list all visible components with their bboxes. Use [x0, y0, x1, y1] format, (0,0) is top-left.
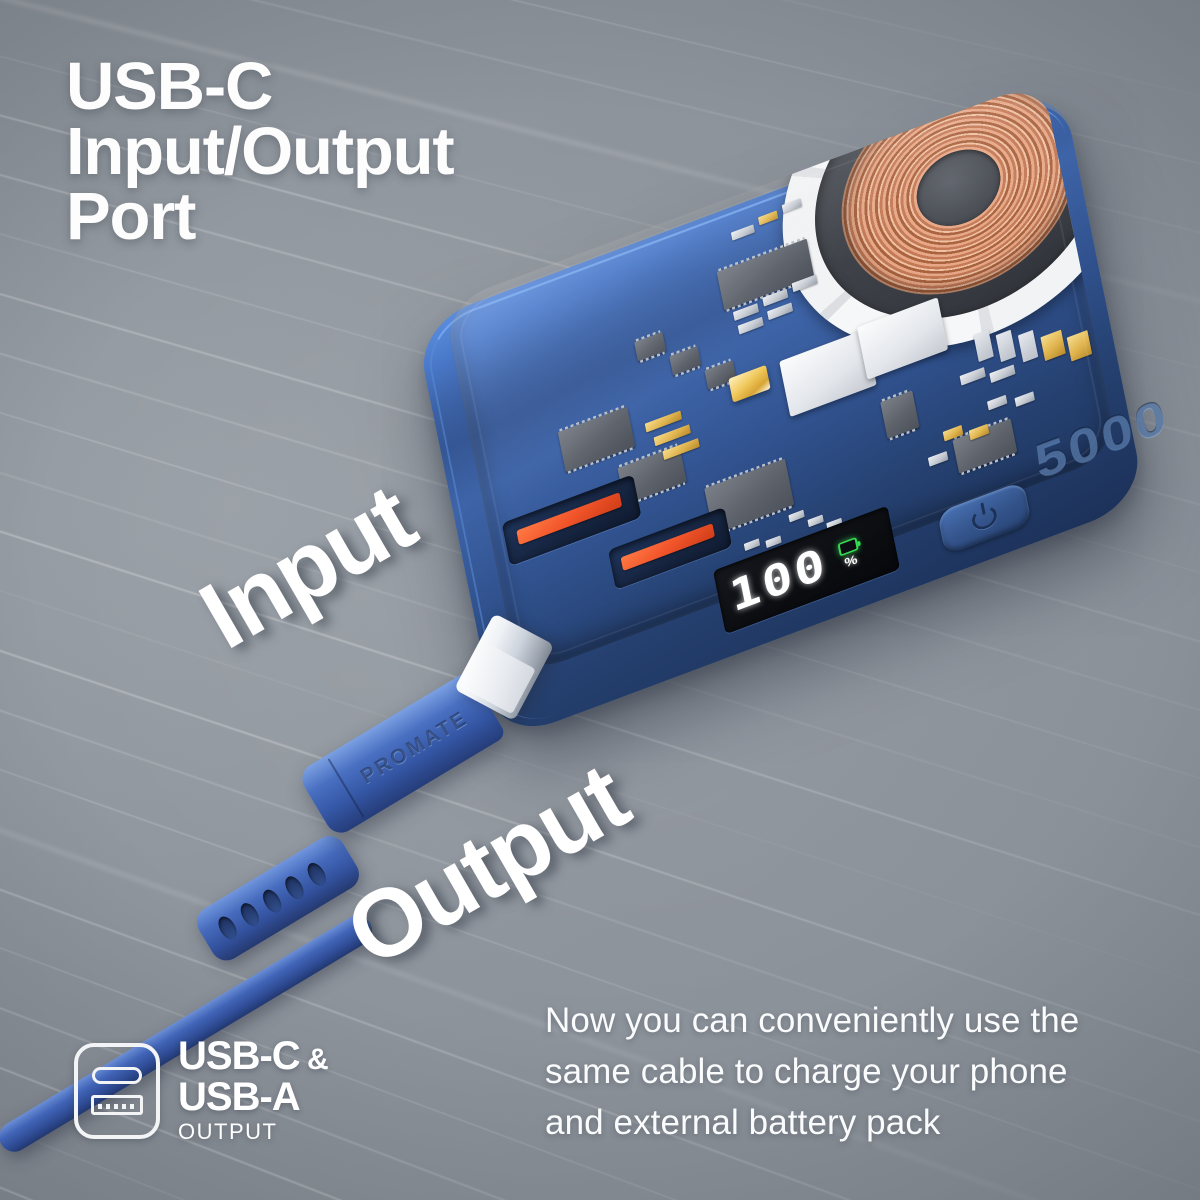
strain-relief-dimple	[215, 913, 241, 942]
percent-symbol: %	[843, 552, 858, 570]
description-line-1: Now you can conveniently use the	[545, 995, 1165, 1046]
usb-a-port-glyph	[91, 1095, 143, 1115]
badge-line-2: USB-A	[178, 1077, 328, 1118]
badge-line-3: OUTPUT	[178, 1118, 328, 1146]
usb-c-port-glyph	[92, 1067, 142, 1084]
badge-line-1-text: USB-C	[178, 1034, 300, 1078]
power-icon	[970, 503, 999, 533]
strain-relief-dimple	[237, 900, 263, 929]
description-text: Now you can conveniently use the same ca…	[545, 995, 1165, 1148]
usb-output-badge: USB-C & USB-A OUTPUT	[74, 1036, 328, 1145]
battery-charging-icon: %	[837, 537, 861, 572]
badge-line-1: USB-C &	[178, 1036, 328, 1077]
strain-relief-dimple	[259, 887, 285, 916]
headline-line-1: USB-C	[66, 54, 666, 119]
product-marketing-image: USB-C Input/Output Port	[0, 0, 1200, 1200]
strain-relief-dimple	[304, 860, 330, 889]
cable-brand-label: PROMATE	[357, 706, 473, 789]
description-line-3: and external battery pack	[545, 1097, 1165, 1148]
usb-c-and-usb-a-port-icon	[74, 1043, 160, 1139]
description-line-2: same cable to charge your phone	[545, 1046, 1165, 1097]
badge-ampersand: &	[300, 1043, 328, 1076]
badge-text: USB-C & USB-A OUTPUT	[178, 1036, 328, 1145]
usb-c-tip-face	[461, 642, 536, 714]
strain-relief-dimple	[282, 873, 308, 902]
